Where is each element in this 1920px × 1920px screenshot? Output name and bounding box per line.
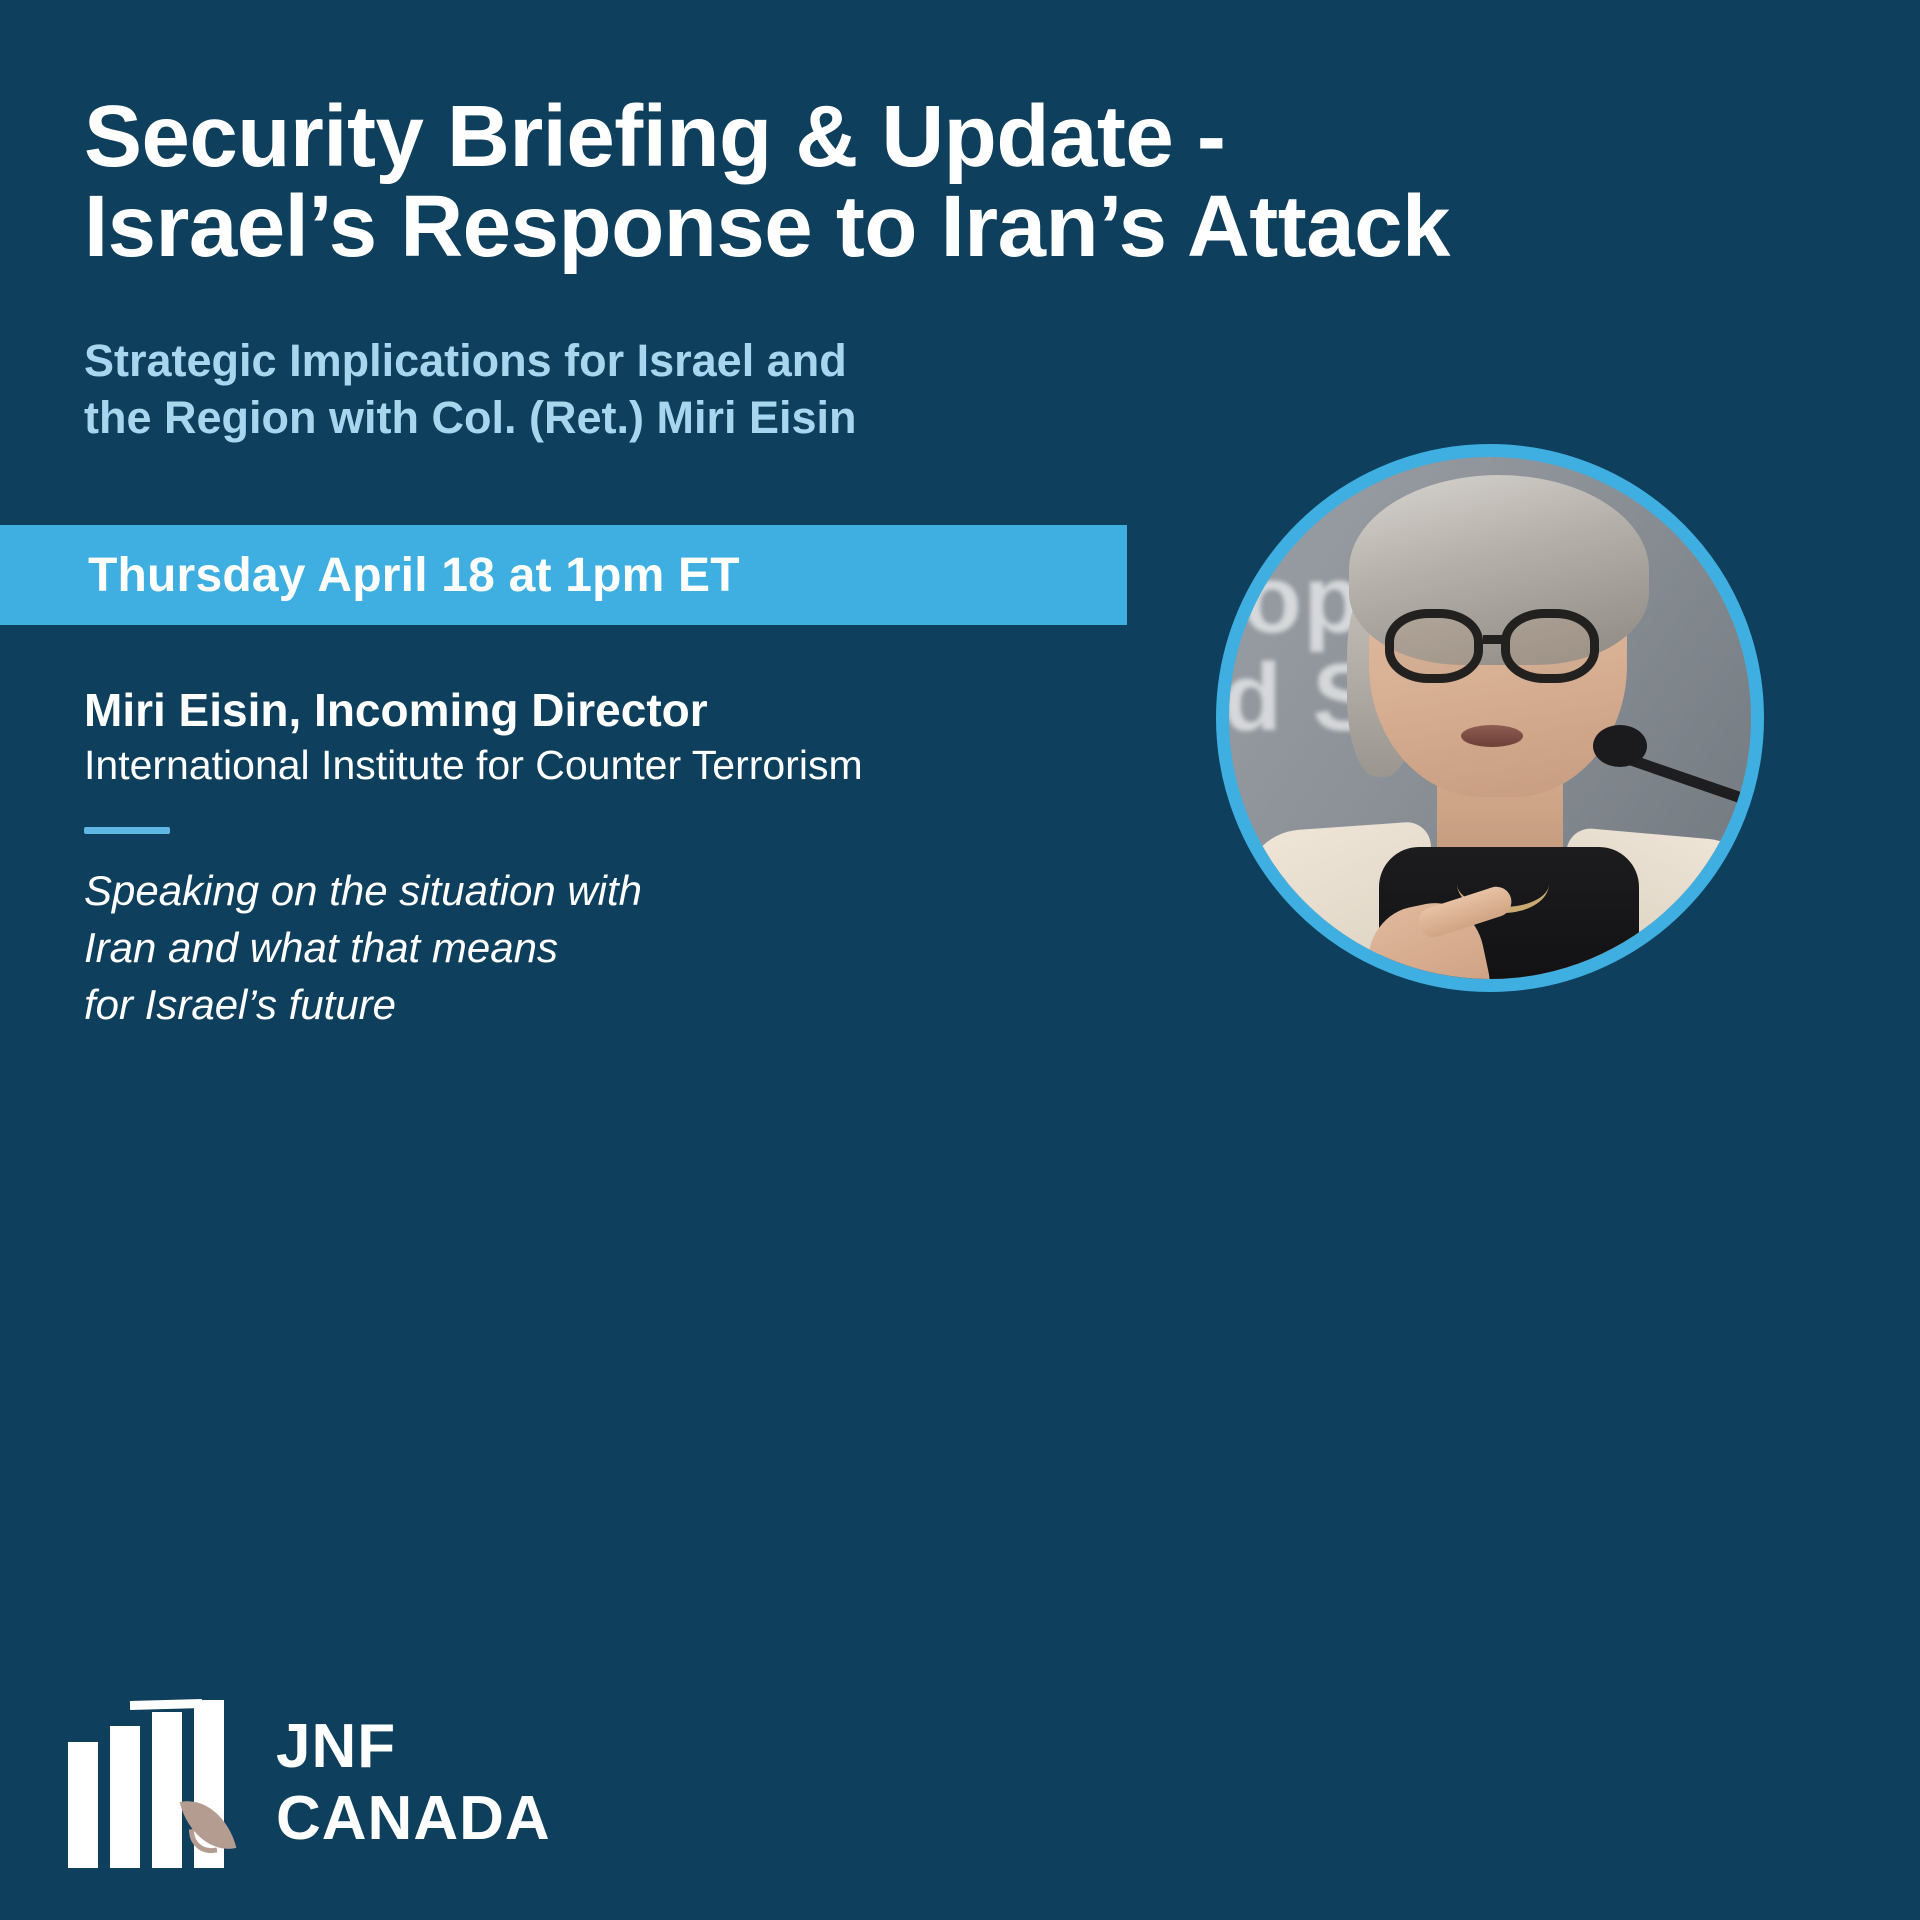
subtitle-line-1: Strategic Implications for Israel and	[84, 332, 1124, 389]
logo-line-jnf: JNF	[276, 1716, 551, 1778]
section-divider	[84, 827, 170, 834]
jnf-canada-logo: JNF CANADA	[68, 1686, 548, 1876]
title-line-2: Israel’s Response to Iran’s Attack	[84, 182, 1584, 272]
logo-dash	[130, 1699, 202, 1710]
speaker-organization: International Institute for Counter Terr…	[84, 742, 1184, 789]
glasses-bridge	[1483, 635, 1503, 644]
subtitle-line-2: the Region with Col. (Ret.) Miri Eisin	[84, 389, 1124, 446]
blurb-line-2: Iran and what that means	[84, 919, 904, 976]
speaker-portrait-avatar: op d Se y	[1216, 444, 1764, 992]
blurb-line-1: Speaking on the situation with	[84, 862, 904, 919]
logo-wordmark: JNF CANADA	[276, 1716, 551, 1853]
logo-bar	[110, 1726, 140, 1868]
title-line-1: Security Briefing & Update -	[84, 92, 1584, 182]
backdrop-text-fragment: op	[1243, 545, 1364, 655]
lens-right	[1501, 609, 1599, 683]
logo-bar	[152, 1712, 182, 1868]
mouth	[1461, 725, 1523, 747]
speaker-name-title: Miri Eisin, Incoming Director	[84, 683, 1184, 737]
date-time-text: Thursday April 18 at 1pm ET	[0, 548, 740, 603]
page-subtitle: Strategic Implications for Israel and th…	[84, 332, 1124, 446]
blurb-line-3: for Israel’s future	[84, 976, 904, 1033]
logo-line-canada: CANADA	[276, 1786, 551, 1853]
microphone-icon	[1593, 725, 1647, 767]
speaker-blurb: Speaking on the situation with Iran and …	[84, 862, 904, 1033]
logo-bar	[68, 1742, 98, 1868]
lens-left	[1385, 609, 1483, 683]
eyeglasses-icon	[1385, 609, 1625, 683]
page-title: Security Briefing & Update - Israel’s Re…	[84, 92, 1584, 273]
event-promo-poster: Security Briefing & Update - Israel’s Re…	[0, 0, 1920, 1920]
date-time-banner: Thursday April 18 at 1pm ET	[0, 525, 1127, 625]
leaf-stem-icon	[189, 1827, 218, 1856]
jnf-logo-mark-icon	[68, 1700, 248, 1868]
